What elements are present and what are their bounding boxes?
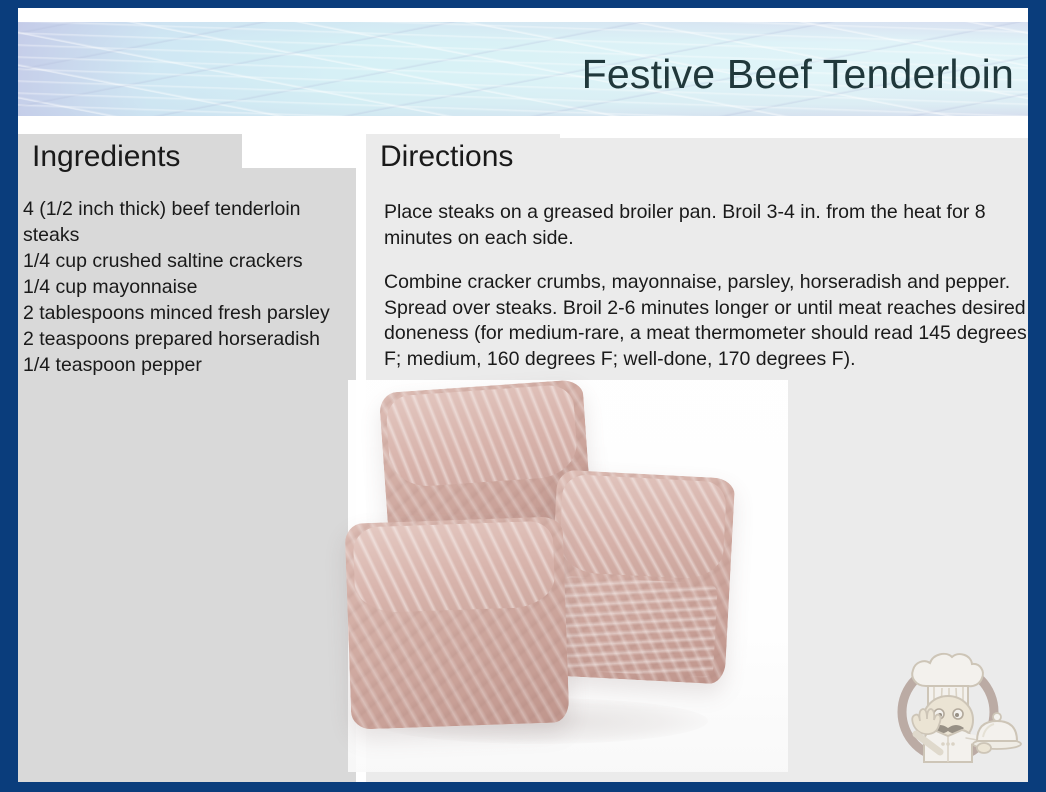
page-title: Festive Beef Tenderloin [582, 50, 1014, 98]
steak-top-face [353, 521, 556, 614]
slide-page: Festive Beef Tenderloin Ingredients D [18, 8, 1028, 782]
ingredients-list: 4 (1/2 inch thick) beef tenderloin steak… [23, 196, 353, 378]
beef-tenderloin-steaks-photo [348, 380, 788, 772]
steak-top-face [558, 474, 727, 580]
steak-top-face [385, 384, 579, 489]
header-banner: Festive Beef Tenderloin [18, 22, 1028, 116]
list-item: 2 tablespoons minced fresh parsley [23, 300, 353, 326]
steak-cube-right [547, 469, 736, 684]
steak-cube-front [344, 516, 569, 729]
directions-heading-tab: Directions [366, 134, 560, 182]
ingredients-heading: Ingredients [32, 138, 218, 176]
directions-paragraph: Combine cracker crumbs, mayonnaise, pars… [384, 270, 1028, 372]
directions-paragraph: Place steaks on a greased broiler pan. B… [384, 200, 1028, 251]
list-item: 2 teaspoons prepared horseradish [23, 326, 353, 352]
list-item: 1/4 cup mayonnaise [23, 274, 353, 300]
chef-mascot-logo [886, 640, 1022, 768]
steak-grain-face [557, 576, 718, 678]
chef-mascot-icon [886, 640, 1022, 768]
list-item: 1/4 teaspoon pepper [23, 352, 353, 378]
recipe-slide: Festive Beef Tenderloin Ingredients D [0, 0, 1046, 792]
list-item: 1/4 cup crushed saltine crackers [23, 248, 353, 274]
directions-heading: Directions [380, 138, 536, 176]
ingredients-heading-tab: Ingredients [18, 134, 242, 182]
list-item: 4 (1/2 inch thick) beef tenderloin steak… [23, 196, 353, 248]
directions-body: Place steaks on a greased broiler pan. B… [384, 200, 1028, 391]
